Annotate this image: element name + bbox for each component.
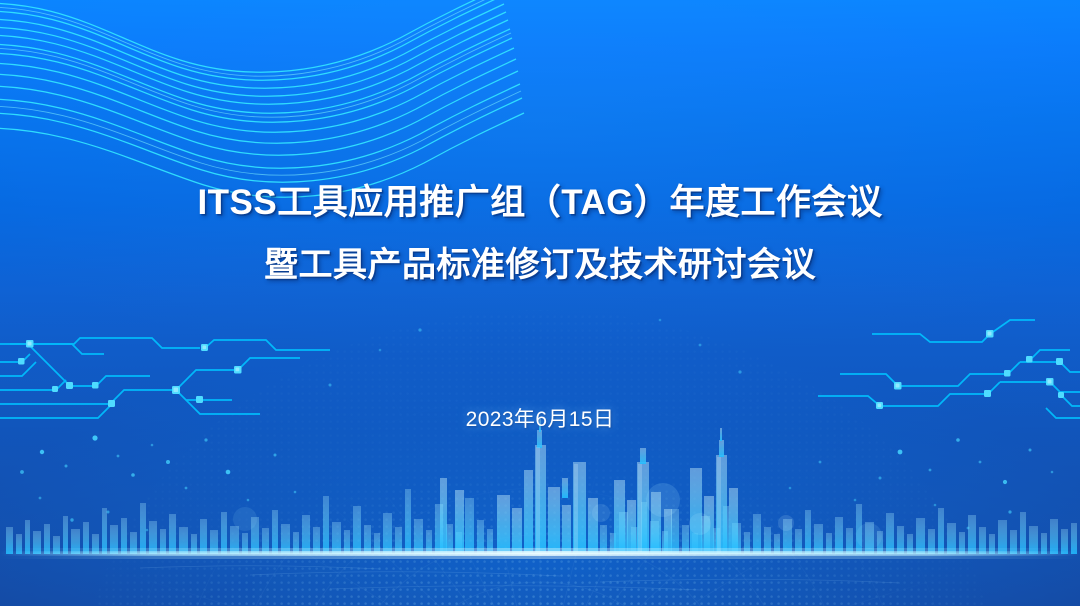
background-vignette — [0, 0, 1080, 606]
slide-title-block: ITSS工具应用推广组（TAG）年度工作会议 暨工具产品标准修订及技术研讨会议 — [0, 172, 1080, 296]
title-line-1: ITSS工具应用推广组（TAG）年度工作会议 — [0, 172, 1080, 234]
presentation-slide: ITSS工具应用推广组（TAG）年度工作会议 暨工具产品标准修订及技术研讨会议 … — [0, 0, 1080, 606]
title-line-2: 暨工具产品标准修订及技术研讨会议 — [0, 234, 1080, 296]
slide-date: 2023年6月15日 — [0, 403, 1080, 433]
